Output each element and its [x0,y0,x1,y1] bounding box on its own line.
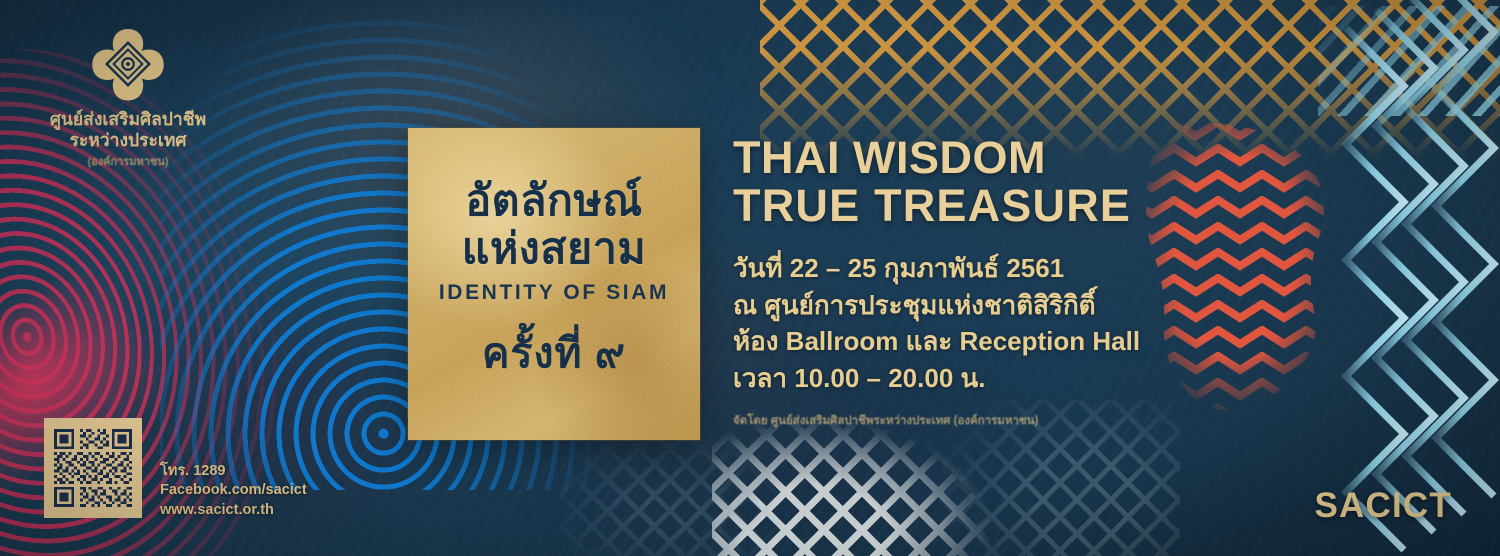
event-detail-date: วันที่ 22 – 25 กุมภาพันธ์ 2561 [733,250,1133,287]
event-organizer-credit: จัดโดย ศูนย์ส่งเสริมศิลปาชีพระหว่างประเท… [733,412,1133,430]
event-detail-venue: ณ ศูนย์การประชุมแห่งชาติสิริกิติ์ [733,287,1133,324]
thai-title-line1: อัตลักษณ์ [465,178,642,224]
contact-info-block: โทร. 1289 Facebook.com/sacict www.sacict… [160,462,307,520]
headline-line2: TRUE TREASURE [733,183,1133,230]
event-detail-list: วันที่ 22 – 25 กุมภาพันธ์ 2561 ณ ศูนย์กา… [733,250,1133,398]
edition-label: ครั้งที่ ๙ [482,321,626,386]
faint-weave-texture-icon [560,430,780,556]
contact-website[interactable]: www.sacict.or.th [160,501,307,520]
event-info-block: THAI WISDOM TRUE TREASURE วันที่ 22 – 25… [733,135,1133,430]
event-detail-time: เวลา 10.00 – 20.00 น. [733,360,1133,397]
english-title: IDENTITY OF SIAM [439,281,669,305]
contact-facebook[interactable]: Facebook.com/sacict [160,481,307,500]
organization-name-line1: ศูนย์ส่งเสริมศิลปาชีพ [28,109,228,130]
organization-logo-block: ศูนย์ส่งเสริมศิลปาชีพ ระหว่างประเทศ (องค… [28,26,228,170]
sacict-flower-logo-icon [90,26,166,102]
organization-name-line2: ระหว่างประเทศ [28,130,228,151]
contact-phone: โทร. 1289 [160,462,307,481]
cyan-chevron-stripes-pattern-icon [1300,0,1500,556]
thai-title-line2: แห่งสยาม [462,226,647,272]
gold-title-panel: อัตลักษณ์ แห่งสยาม IDENTITY OF SIAM ครั้… [408,128,700,440]
event-detail-rooms: ห้อง Ballroom และ Reception Hall [733,323,1133,360]
qr-code-icon[interactable] [44,418,142,518]
organization-name-sub: (องค์การมหาชน) [28,152,228,170]
event-banner: ศูนย์ส่งเสริมศิลปาชีพ ระหว่างประเทศ (องค… [0,0,1500,556]
sacict-wordmark: SACICT [1315,486,1452,526]
headline-line1: THAI WISDOM [733,135,1133,182]
